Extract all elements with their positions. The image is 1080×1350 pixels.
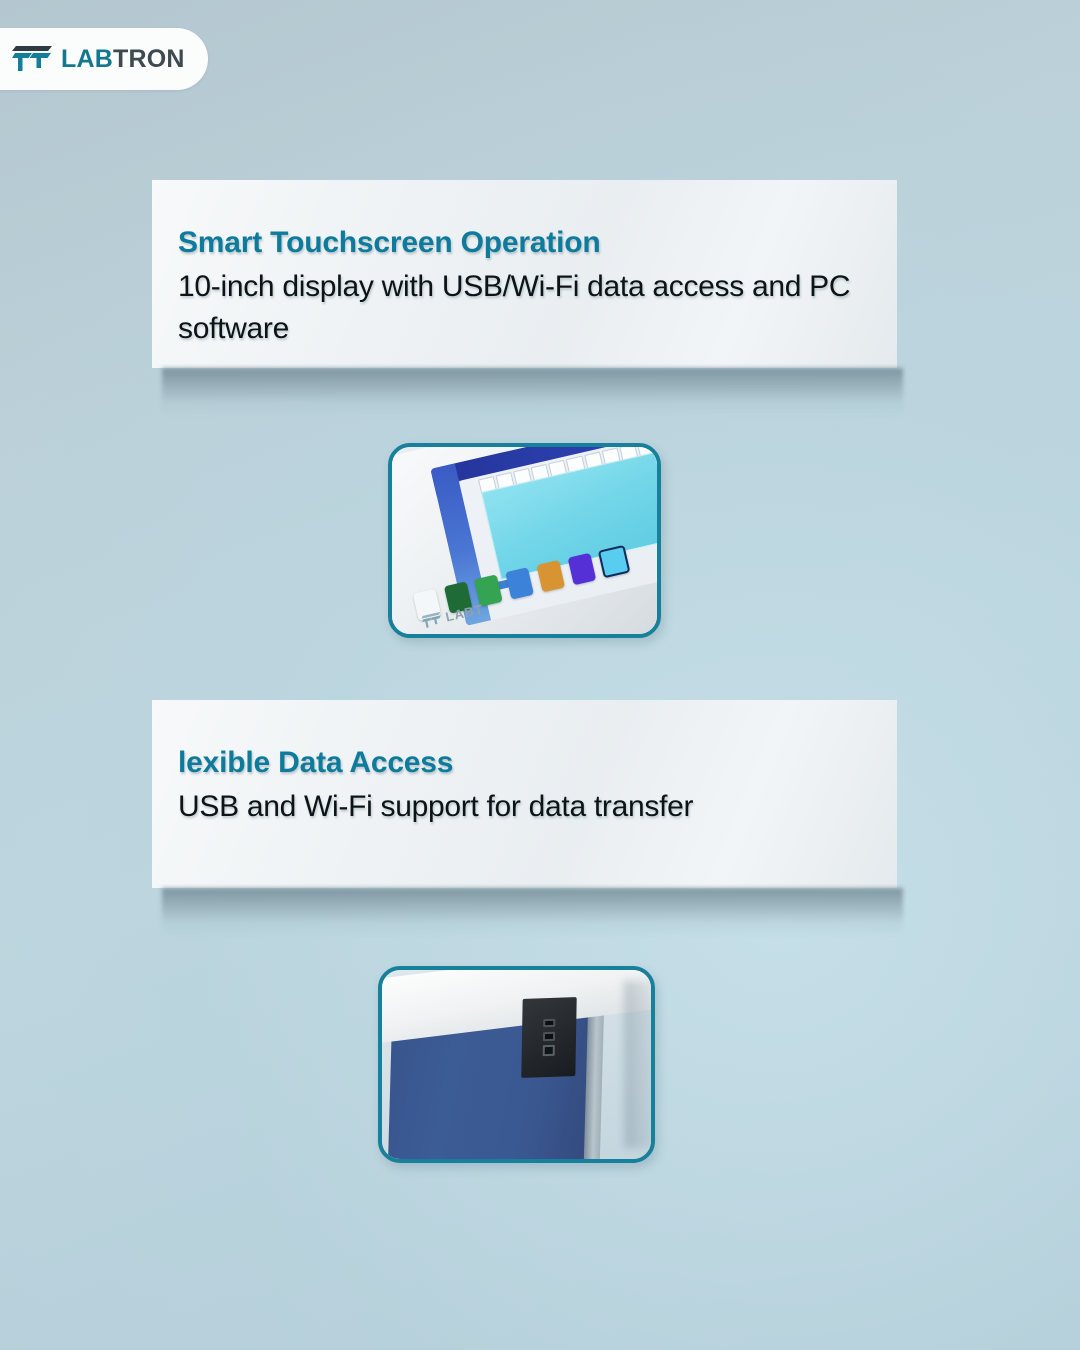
touchscreen-photo-canvas: LABT: [392, 447, 657, 634]
feature-description: USB and Wi-Fi support for data transfer: [178, 786, 857, 829]
usb-ports-photo-canvas: [382, 970, 651, 1159]
brand-logo-pill: LABTRON: [0, 28, 208, 90]
feature-card-content: Smart Touchscreen Operation 10-inch disp…: [152, 180, 897, 391]
photo-edge-shadow: [624, 981, 651, 1147]
brand-name: LABTRON: [61, 47, 185, 72]
port-cluster: [521, 997, 576, 1078]
usb-port-icon: [542, 1032, 555, 1041]
usb-port-icon: [543, 1019, 556, 1028]
brand-name-lab: LAB: [61, 45, 113, 73]
feature-card-flexible-data-access: lexible Data Access USB and Wi-Fi suppor…: [152, 700, 897, 888]
brand-name-tron: TRON: [113, 45, 185, 73]
feature-description: 10-inch display with USB/Wi-Fi data acce…: [178, 266, 857, 351]
feature-card-content: lexible Data Access USB and Wi-Fi suppor…: [152, 700, 897, 868]
feature-title: lexible Data Access: [178, 746, 857, 780]
labtron-double-t-icon: [12, 44, 52, 74]
usb-ports-photo: [378, 966, 655, 1163]
ethernet-port-icon: [542, 1046, 555, 1057]
touchscreen-display-photo: LABT: [388, 443, 661, 638]
feature-title: Smart Touchscreen Operation: [178, 226, 857, 260]
feature-card-smart-touchscreen-operation: Smart Touchscreen Operation 10-inch disp…: [152, 180, 897, 368]
